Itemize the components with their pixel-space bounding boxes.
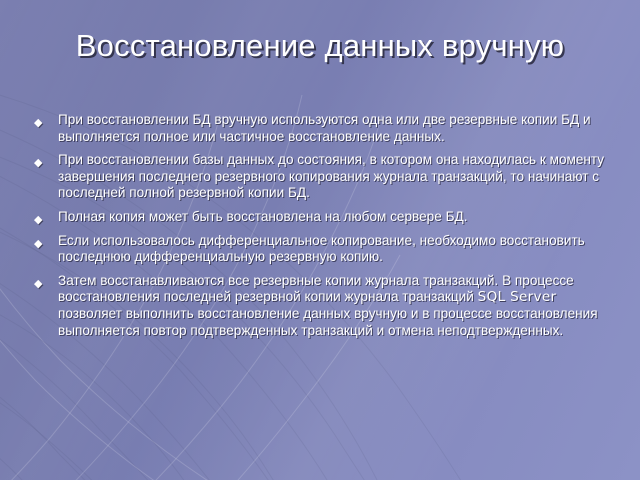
list-item: ◆ При восстановлении БД вручную использу…	[34, 112, 612, 145]
bullet-diamond-icon: ◆	[34, 273, 58, 289]
product-name-run: SQL Server	[478, 289, 557, 305]
bullet-diamond-icon: ◆	[34, 209, 58, 225]
bullet-text-3: Полная копия может быть восстановлена на…	[58, 209, 612, 226]
bullet-list: ◆ При восстановлении БД вручную использу…	[34, 112, 612, 346]
page-title: Восстановление данных вручную	[0, 28, 640, 64]
bullet-text-1: При восстановлении БД вручную используют…	[58, 112, 612, 145]
bullet-text-2: При восстановлении базы данных до состоя…	[58, 152, 612, 202]
list-item: ◆ Затем восстанавливаются все резервные …	[34, 273, 612, 339]
bullet-text-5: Затем восстанавливаются все резервные ко…	[58, 273, 612, 339]
list-item: ◆ Если использовалось дифференциальное к…	[34, 233, 612, 266]
bullet-diamond-icon: ◆	[34, 152, 58, 168]
bullet-text-4: Если использовалось дифференциальное коп…	[58, 233, 612, 266]
bullet-diamond-icon: ◆	[34, 112, 58, 128]
list-item: ◆ При восстановлении базы данных до сост…	[34, 152, 612, 202]
list-item: ◆ Полная копия может быть восстановлена …	[34, 209, 612, 226]
bullet-diamond-icon: ◆	[34, 233, 58, 249]
text-run: позволяет выполнить восстановление данны…	[58, 306, 598, 338]
presentation-slide: Восстановление данных вручную ◆ При восс…	[0, 0, 640, 480]
